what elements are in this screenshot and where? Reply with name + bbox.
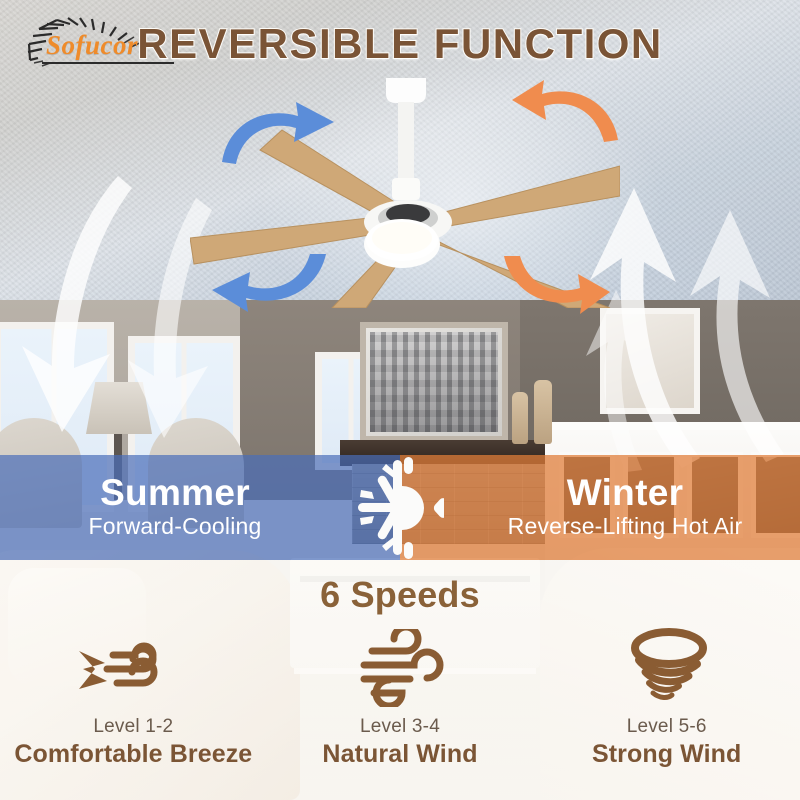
winter-panel: Winter Reverse-Lifting Hot Air — [400, 455, 800, 560]
tornado-icon — [615, 632, 719, 704]
speed-level-label: Level 1-2 — [93, 716, 173, 738]
wind-swirl-icon — [350, 632, 450, 704]
winter-subtitle: Reverse-Lifting Hot Air — [466, 512, 784, 541]
speed-item: Level 5-6 Strong Wind — [533, 632, 800, 792]
speed-name-label: Comfortable Breeze — [14, 740, 252, 769]
snowflake-sun-split-icon — [356, 456, 444, 559]
speed-level-label: Level 5-6 — [627, 716, 707, 738]
leaf-breeze-icon — [73, 632, 193, 704]
speed-levels-list: Level 1-2 Comfortable Breeze Level 3-4 N… — [0, 632, 800, 792]
framed-cityscape-art — [360, 322, 508, 442]
blue-curved-arrow-counterclockwise — [218, 100, 338, 170]
speed-item: Level 3-4 Natural Wind — [267, 632, 534, 792]
speeds-title: 6 Speeds — [0, 574, 800, 616]
summer-panel: Summer Forward-Cooling — [0, 455, 400, 560]
summer-title: Summer — [16, 474, 334, 512]
product-feature-graphic: Sofucor REVERSIBLE FUNCTION Summer Forwa… — [0, 0, 800, 800]
orange-curved-arrow-clockwise — [512, 80, 622, 146]
decor-vase — [512, 392, 528, 444]
orange-curved-arrow-lower — [500, 248, 610, 314]
speed-name-label: Strong Wind — [592, 740, 741, 769]
summer-subtitle: Forward-Cooling — [16, 512, 334, 541]
header: Sofucor REVERSIBLE FUNCTION — [0, 0, 800, 80]
blue-curved-arrow-lower — [210, 248, 330, 314]
speed-item: Level 1-2 Comfortable Breeze — [0, 632, 267, 792]
page-title: REVERSIBLE FUNCTION — [0, 20, 800, 68]
speed-level-label: Level 3-4 — [360, 716, 440, 738]
winter-title: Winter — [466, 474, 784, 512]
speed-name-label: Natural Wind — [322, 740, 477, 769]
decor-vase — [534, 380, 552, 444]
